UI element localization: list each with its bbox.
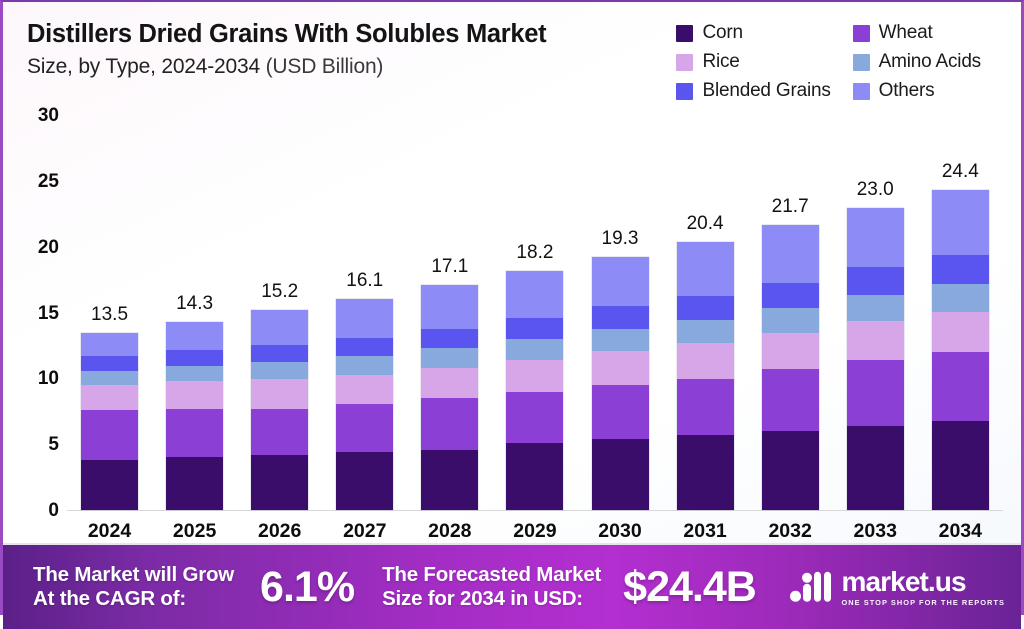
stacked-bar[interactable]: 15.2 [251,310,308,510]
brand-wordmark: market.us ONE STOP SHOP FOR THE REPORTS [841,568,1005,606]
stacked-bar[interactable]: 17.1 [421,285,478,510]
bar-segment-rice[interactable] [762,333,819,370]
bar-segment-amino-acids[interactable] [762,308,819,333]
legend-item-others[interactable]: Others [853,80,981,102]
forecast-label-line2: Size for 2034 in USD: [382,587,583,610]
legend-swatch-icon [676,83,693,100]
bar-segment-others[interactable] [677,242,734,296]
legend-label: Blended Grains [702,80,830,102]
bar-value-label: 23.0 [857,179,894,201]
legend-item-corn[interactable]: Corn [676,22,830,44]
bar-segment-amino-acids[interactable] [932,284,989,312]
legend-swatch-icon [676,25,693,42]
bar-segment-blended-grains[interactable] [336,338,393,356]
y-axis-tick: 10 [38,368,59,390]
bar-segment-corn[interactable] [336,452,393,510]
legend-item-amino-acids[interactable]: Amino Acids [853,51,981,73]
market-us-logo-icon [790,572,832,602]
bar-segment-blended-grains[interactable] [932,255,989,284]
y-axis-tick: 5 [48,434,59,456]
cagr-label-cell: The Market will Grow At the CAGR of: [33,563,234,611]
bar-group-2032[interactable]: 21.7 [759,116,821,510]
bar-segment-rice[interactable] [166,381,223,409]
bar-segment-rice[interactable] [81,385,138,410]
bar-segment-rice[interactable] [251,379,308,409]
stacked-bar[interactable]: 24.4 [932,190,989,510]
cagr-label-line1: The Market will Grow [33,563,234,586]
bar-segment-blended-grains[interactable] [81,356,138,370]
legend-item-rice[interactable]: Rice [676,51,830,73]
bar-segment-wheat[interactable] [677,379,734,435]
bar-group-2028[interactable]: 17.1 [419,116,481,510]
y-axis-tick: 25 [38,171,59,193]
x-axis-tick: 2024 [79,520,141,543]
x-axis-tick: 2031 [674,520,736,543]
legend-label: Others [879,80,935,102]
bar-segment-amino-acids[interactable] [847,295,904,321]
bar-segment-amino-acids[interactable] [166,366,223,382]
bar-group-2026[interactable]: 15.2 [249,116,311,510]
bar-segment-wheat[interactable] [336,404,393,453]
stacked-bar[interactable]: 13.5 [81,333,138,510]
legend-swatch-icon [853,25,870,42]
cagr-value: 6.1% [260,563,354,612]
bar-group-2027[interactable]: 16.1 [334,116,396,510]
x-axis-tick: 2029 [504,520,566,543]
x-axis-tick: 2028 [419,520,481,543]
bar-value-label: 17.1 [431,256,468,278]
bar-value-label: 24.4 [942,161,979,183]
bar-value-label: 21.7 [772,196,809,218]
bar-segment-wheat[interactable] [81,410,138,460]
bar-segment-wheat[interactable] [762,369,819,431]
bar-segment-others[interactable] [81,333,138,357]
bar-value-label: 19.3 [602,228,639,250]
bar-segment-amino-acids[interactable] [592,329,649,351]
bar-segment-amino-acids[interactable] [81,371,138,385]
bar-value-label: 15.2 [261,281,298,303]
bar-segment-blended-grains[interactable] [762,283,819,308]
stacked-bar[interactable]: 16.1 [336,299,393,510]
bar-segment-amino-acids[interactable] [506,339,563,360]
bar-segment-others[interactable] [762,225,819,283]
bar-segment-corn[interactable] [932,421,989,510]
bar-segment-wheat[interactable] [592,385,649,439]
bar-segment-corn[interactable] [506,443,563,510]
bar-group-2031[interactable]: 20.4 [674,116,736,510]
bar-segment-others[interactable] [506,271,563,318]
stacked-bar[interactable]: 23.0 [847,208,904,510]
forecast-label-line1: The Forecasted Market [382,563,601,586]
legend-swatch-icon [853,83,870,100]
bar-segment-amino-acids[interactable] [251,362,308,379]
bar-segment-rice[interactable] [847,321,904,360]
bar-group-2029[interactable]: 18.2 [504,116,566,510]
forecast-label: The Forecasted Market Size for 2034 in U… [382,563,601,611]
bar-value-label: 18.2 [516,242,553,264]
bar-value-label: 14.3 [176,293,213,315]
bar-segment-others[interactable] [336,299,393,338]
x-axis-tick: 2026 [249,520,311,543]
bar-group-2033[interactable]: 23.0 [844,116,906,510]
page-title: Distillers Dried Grains With Solubles Ma… [27,20,546,49]
bar-group-2030[interactable]: 19.3 [589,116,651,510]
bar-segment-amino-acids[interactable] [421,348,478,368]
bar-segment-wheat[interactable] [251,409,308,455]
legend-item-wheat[interactable]: Wheat [853,22,981,44]
legend-label: Amino Acids [879,51,981,73]
x-axis-tick: 2034 [929,520,991,543]
bar-segment-rice[interactable] [677,343,734,378]
bar-group-2025[interactable]: 14.3 [164,116,226,510]
x-axis-tick: 2033 [844,520,906,543]
cagr-value-cell: 6.1% [260,563,354,612]
forecast-value: $24.4B [623,563,756,612]
x-axis-tick: 2027 [334,520,396,543]
title-block: Distillers Dried Grains With Solubles Ma… [27,16,546,79]
brand-tagline: ONE STOP SHOP FOR THE REPORTS [841,599,1005,606]
y-axis-tick: 0 [48,500,59,522]
bar-segment-blended-grains[interactable] [506,318,563,339]
forecast-label-cell: The Forecasted Market Size for 2034 in U… [382,563,601,611]
bar-segment-amino-acids[interactable] [677,320,734,344]
bar-value-label: 16.1 [346,270,383,292]
stacked-bar[interactable]: 21.7 [762,225,819,510]
bar-segment-others[interactable] [251,310,308,344]
bar-segment-rice[interactable] [506,360,563,392]
bar-segment-rice[interactable] [932,312,989,353]
chart-legend: CornWheatRiceAmino AcidsBlended GrainsOt… [676,16,1003,102]
legend-swatch-icon [853,54,870,71]
bar-segment-wheat[interactable] [847,360,904,426]
legend-item-blended-grains[interactable]: Blended Grains [676,80,830,102]
chart-header: Distillers Dried Grains With Solubles Ma… [21,16,1003,102]
x-axis-tick: 2025 [164,520,226,543]
bar-segment-corn[interactable] [81,460,138,510]
legend-label: Corn [702,22,742,44]
y-axis-tick: 20 [38,237,59,259]
bar-segment-blended-grains[interactable] [592,306,649,328]
brand-logo[interactable]: market.us ONE STOP SHOP FOR THE REPORTS [790,568,1005,606]
legend-label: Rice [702,51,739,73]
plot-area: 13.514.315.216.117.118.219.320.421.723.0… [67,116,1003,511]
bar-segment-others[interactable] [592,257,649,307]
bar-segment-corn[interactable] [592,439,649,510]
stacked-bar[interactable]: 18.2 [506,271,563,510]
bar-segment-corn[interactable] [677,435,734,510]
bar-segment-corn[interactable] [166,457,223,510]
bar-group-2034[interactable]: 24.4 [929,116,991,510]
bar-segment-others[interactable] [932,190,989,256]
bar-segment-others[interactable] [847,208,904,267]
bar-segment-corn[interactable] [847,426,904,510]
bar-segment-rice[interactable] [336,375,393,404]
bar-value-label: 20.4 [687,213,724,235]
bar-segment-wheat[interactable] [166,409,223,458]
bar-segment-amino-acids[interactable] [336,356,393,374]
bar-segment-wheat[interactable] [421,398,478,449]
bar-segment-blended-grains[interactable] [421,329,478,349]
infographic-container: Distillers Dried Grains With Solubles Ma… [0,0,1024,615]
bar-segment-others[interactable] [166,322,223,350]
x-axis-tick: 2030 [589,520,651,543]
bar-segment-corn[interactable] [762,431,819,510]
cagr-label: The Market will Grow At the CAGR of: [33,563,234,611]
page-subtitle: Size, by Type, 2024-2034 (USD Billion) [27,55,546,79]
bar-segment-corn[interactable] [421,450,478,510]
plot-container: 051015202530 13.514.315.216.117.118.219.… [21,116,1003,511]
bar-series-container: 13.514.315.216.117.118.219.320.421.723.0… [67,116,1003,510]
bar-segment-rice[interactable] [421,368,478,398]
bar-segment-wheat[interactable] [506,392,563,443]
y-axis-tick: 15 [38,303,59,325]
y-axis-tick: 30 [38,105,59,127]
x-axis: 2024202520262027202820292030203120322033… [67,520,1003,543]
bar-segment-corn[interactable] [251,455,308,510]
stacked-bar[interactable]: 19.3 [592,257,649,510]
bar-segment-others[interactable] [421,285,478,328]
bar-value-label: 13.5 [91,304,128,326]
footer-banner: The Market will Grow At the CAGR of: 6.1… [3,543,1021,629]
stacked-bar[interactable]: 14.3 [166,322,223,510]
legend-label: Wheat [879,22,933,44]
cagr-label-line2: At the CAGR of: [33,587,186,610]
bar-segment-blended-grains[interactable] [166,350,223,366]
bar-segment-wheat[interactable] [932,352,989,420]
subtitle-text: Size, by Type, 2024-2034 [27,55,260,78]
chart-panel: Distillers Dried Grains With Solubles Ma… [3,2,1021,543]
stacked-bar[interactable]: 20.4 [677,242,734,510]
bar-segment-blended-grains[interactable] [251,345,308,362]
legend-swatch-icon [676,54,693,71]
x-axis-tick: 2032 [759,520,821,543]
y-axis: 051015202530 [21,116,67,511]
brand-name: market.us [841,568,1005,596]
bar-group-2024[interactable]: 13.5 [79,116,141,510]
bar-segment-blended-grains[interactable] [847,267,904,295]
bar-segment-rice[interactable] [592,351,649,385]
subtitle-unit: (USD Billion) [266,55,384,78]
forecast-value-cell: $24.4B [623,563,756,612]
bar-segment-blended-grains[interactable] [677,296,734,320]
